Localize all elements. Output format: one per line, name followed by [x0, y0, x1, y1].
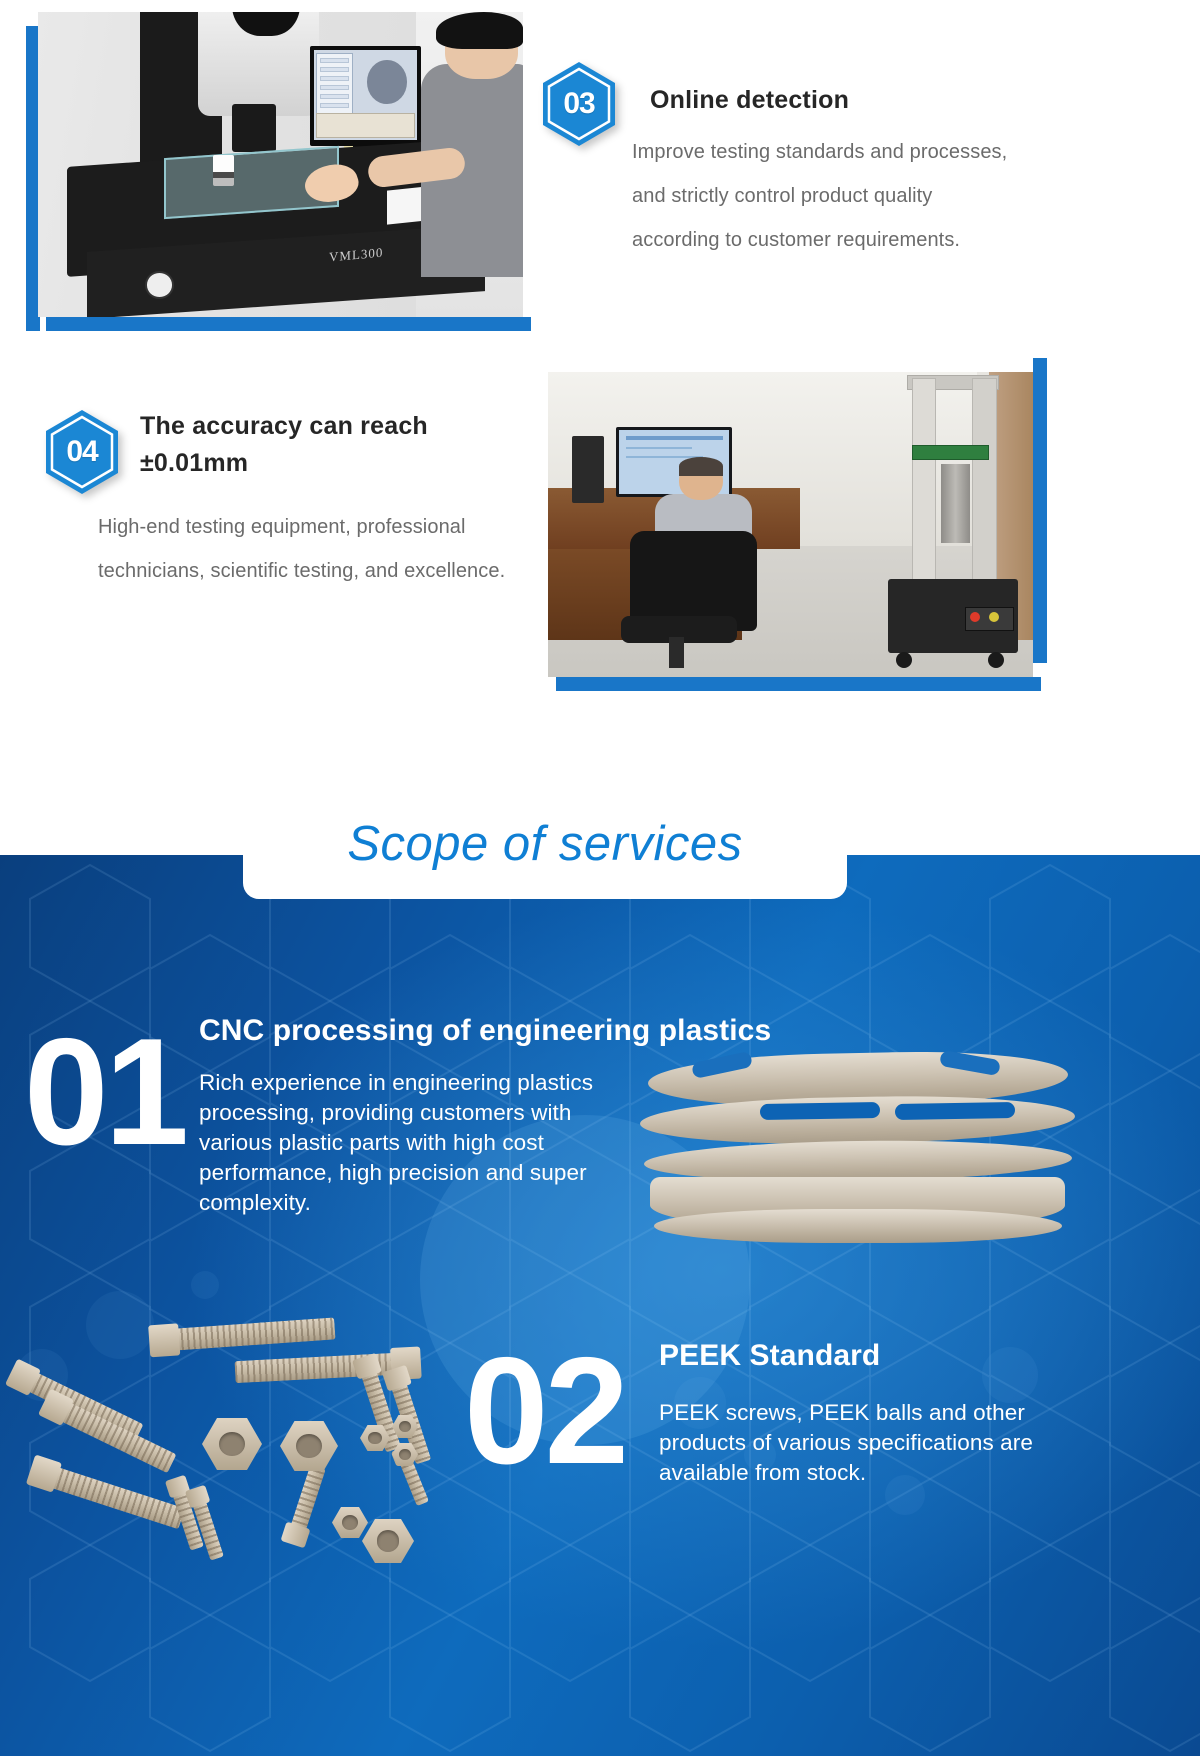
scope-item-02-title: PEEK Standard	[659, 1337, 1129, 1375]
feature-04-body: High-end testing equipment, professional…	[98, 505, 528, 593]
frame-accent-bottom	[556, 677, 1041, 691]
marketing-page: VML300 03 Online detection Improve testi…	[0, 0, 1200, 1756]
feature-04-title: The accuracy can reach ±0.01mm	[140, 408, 500, 482]
frame-accent-bottom	[46, 317, 531, 331]
feature-03-body: Improve testing standards and processes,…	[632, 130, 1017, 262]
scope-item-02-image	[40, 1275, 510, 1565]
feature-03-photo: VML300	[38, 12, 523, 317]
feature-03-image-frame: VML300	[38, 12, 523, 317]
scope-heading: Scope of services	[347, 816, 742, 872]
scope-item-01-number: 01	[24, 1016, 185, 1168]
frame-accent-right	[1033, 358, 1047, 663]
feature-03-number-badge: 03	[539, 60, 619, 148]
workstation-monitor-icon	[310, 46, 422, 147]
feature-04-image-frame	[548, 372, 1033, 677]
scope-title-card: Scope of services	[243, 789, 847, 899]
scope-item-01-image	[640, 1045, 1075, 1290]
feature-03-title: Online detection	[650, 82, 1070, 119]
feature-04-photo	[548, 372, 1033, 677]
scope-item-02-body: PEEK screws, PEEK balls and other produc…	[659, 1398, 1065, 1488]
feature-04-number: 04	[66, 435, 97, 469]
scope-item-01-body: Rich experience in engineering plastics …	[199, 1068, 633, 1218]
feature-03-number: 03	[563, 87, 594, 121]
features-section: VML300 03 Online detection Improve testi…	[0, 0, 1200, 855]
feature-04-number-badge: 04	[42, 408, 122, 496]
